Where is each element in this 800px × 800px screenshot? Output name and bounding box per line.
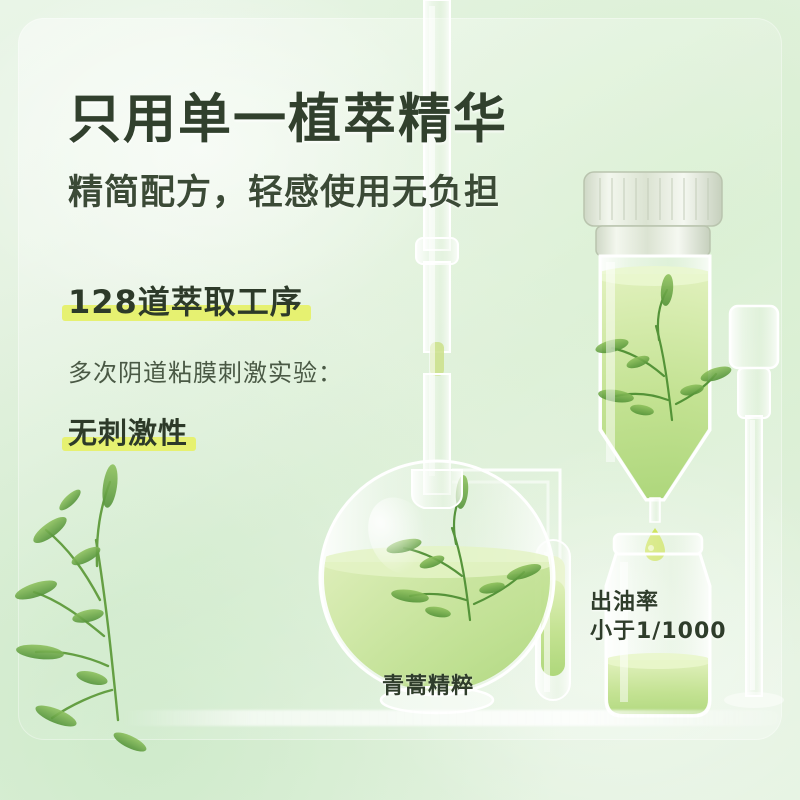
highlight-extraction-steps: 128道萃取工序 <box>68 277 303 323</box>
caption-oil-yield: 出油率 小于1/1000 <box>590 588 727 646</box>
page-subtitle: 精简配方，轻感使用无负担 <box>68 164 588 215</box>
highlight-no-irritation: 无刺激性 <box>68 410 188 452</box>
text-block: 只用单一植萃精华 精简配方，轻感使用无负担 128道萃取工序 多次阴道粘膜刺激实… <box>68 92 588 452</box>
product-poster: 只用单一植萃精华 精简配方，轻感使用无负担 128道萃取工序 多次阴道粘膜刺激实… <box>0 0 800 800</box>
caption-oil-yield-line1: 出油率 <box>590 588 727 617</box>
caption-oil-yield-line2: 小于1/1000 <box>590 617 727 646</box>
test-description: 多次阴道粘膜刺激实验： <box>68 353 588 388</box>
page-title: 只用单一植萃精华 <box>68 92 588 148</box>
caption-artemisia-extract: 青蒿精粹 <box>382 668 474 700</box>
shelf-reflection <box>120 710 780 726</box>
